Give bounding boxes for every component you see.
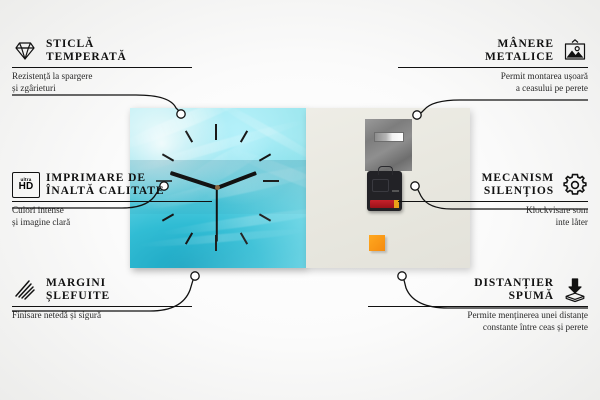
feather-streak [138, 227, 306, 250]
hd-badge-large-label: HD [19, 182, 34, 192]
feature-callout-distantier-spuma: DISTANȚIER SPUMĂ Permite menținerea unei… [368, 277, 588, 333]
clock-tick [263, 180, 279, 182]
callout-divider [12, 306, 192, 307]
clock-second-hand [216, 188, 218, 242]
clock-tick [185, 130, 193, 142]
callout-title: DISTANȚIER SPUMĂ [474, 277, 554, 303]
callout-divider [398, 67, 588, 68]
callout-desc-line2: și zgârieturi [12, 83, 192, 95]
callout-title: MARGINI ȘLEFUITE [46, 277, 110, 303]
hanger-slot [374, 132, 404, 142]
callout-divider [12, 67, 192, 68]
clock-center-hub [215, 185, 220, 190]
callout-header: DISTANȚIER SPUMĂ [368, 277, 588, 303]
callout-desc-line2: a ceasului pe perete [398, 83, 588, 95]
foam-spacer-icon [562, 277, 588, 303]
diamond-icon [12, 38, 38, 64]
callout-header: MARGINI ȘLEFUITE [12, 277, 192, 303]
metal-hanger-part [365, 119, 412, 171]
callout-divider [368, 306, 588, 307]
callout-divider [398, 201, 588, 202]
callout-desc-line2: constante între ceas și perete [368, 322, 588, 334]
infographic-canvas: STICLĂ TEMPERATĂ Rezistență la spargere … [0, 0, 600, 400]
feature-callout-imprimare-hd: ultra HD IMPRIMARE DE ÎNALTĂ CALITATE Cu… [12, 172, 212, 228]
gear-icon [562, 172, 588, 198]
callout-divider [12, 201, 212, 202]
feature-callout-margini-slefuite: MARGINI ȘLEFUITE Finisare netedă și sigu… [12, 277, 192, 322]
feature-callout-sticla-temperata: STICLĂ TEMPERATĂ Rezistență la spargere … [12, 38, 192, 94]
clock-tick [215, 124, 217, 140]
callout-desc-line1: Rezistență la spargere [12, 71, 192, 83]
polished-edges-icon [12, 277, 38, 303]
callout-title: MÂNERE METALICE [485, 38, 554, 64]
callout-header: ultra HD IMPRIMARE DE ÎNALTĂ CALITATE [12, 172, 212, 198]
callout-desc-line1: Finisare netedă și sigură [12, 310, 192, 322]
callout-title: STICLĂ TEMPERATĂ [46, 38, 127, 64]
movement-hook [378, 166, 393, 175]
picture-hanger-icon [562, 38, 588, 64]
callout-header: MÂNERE METALICE [398, 38, 588, 64]
ultra-hd-badge-icon: ultra HD [12, 172, 38, 198]
movement-dial [372, 179, 389, 192]
callout-desc-line1: Klockvisare som [398, 205, 588, 217]
feature-callout-mecanism-silentios: MECANISM SILENȚIOS Klockvisare som inte … [398, 172, 588, 228]
callout-desc-line1: Culori intense [12, 205, 212, 217]
foam-spacer-part [369, 235, 385, 251]
clock-movement-part [367, 171, 402, 211]
callout-desc-line1: Permite menținerea unei distanțe [368, 310, 588, 322]
callout-desc-line2: inte låter [398, 217, 588, 229]
battery-part [370, 200, 399, 208]
callout-desc-line2: și imagine clară [12, 217, 212, 229]
feature-callout-manere-metalice: MÂNERE METALICE Permit montarea ușoară a… [398, 38, 588, 94]
callout-title: IMPRIMARE DE ÎNALTĂ CALITATE [46, 172, 164, 198]
callout-header: MECANISM SILENȚIOS [398, 172, 588, 198]
callout-title: MECANISM SILENȚIOS [482, 172, 554, 198]
callout-header: STICLĂ TEMPERATĂ [12, 38, 192, 64]
leader-endpoint-margini [191, 272, 199, 280]
callout-desc-line1: Permit montarea ușoară [398, 71, 588, 83]
